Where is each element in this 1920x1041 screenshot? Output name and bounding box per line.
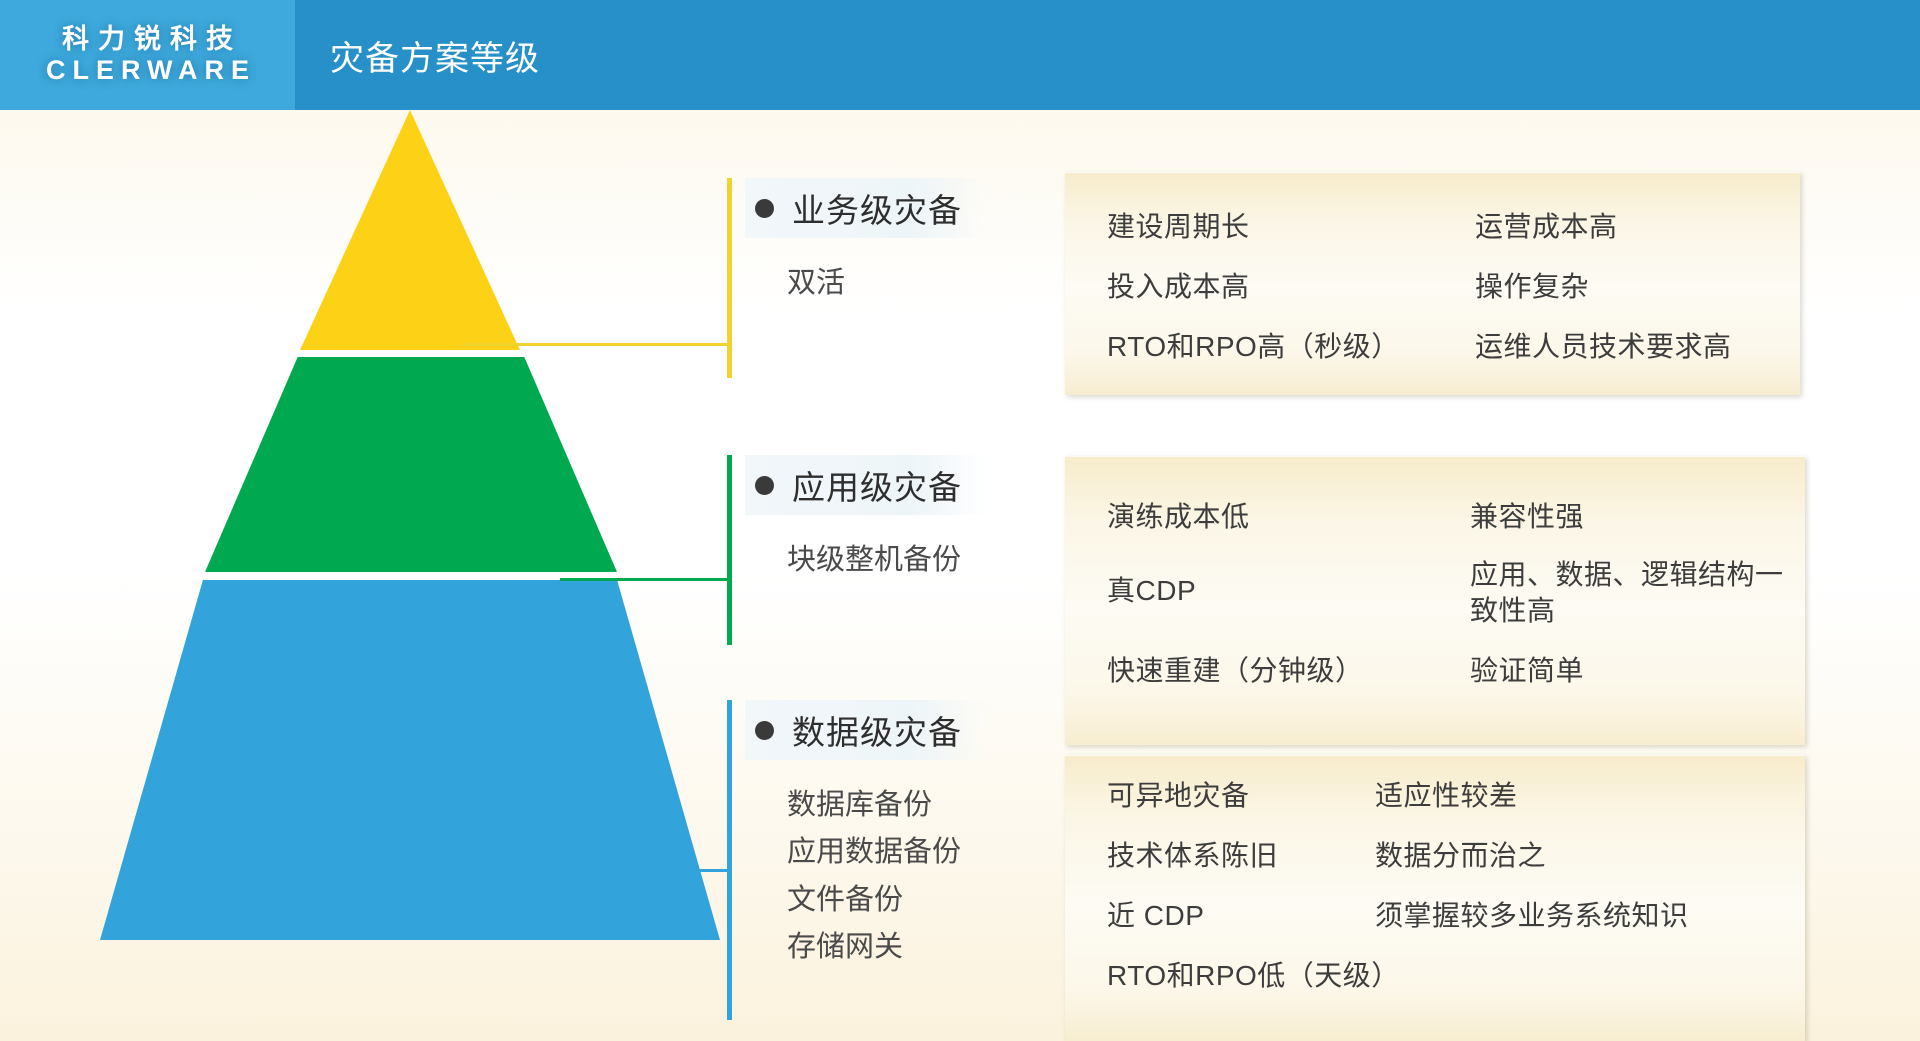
list-item: 文件备份 bbox=[787, 877, 988, 924]
detail-item: 验证简单 bbox=[1470, 653, 1584, 688]
list-item: 存储网关 bbox=[787, 924, 988, 971]
page-title: 灾备方案等级 bbox=[330, 0, 540, 110]
detail-box-business: 建设周期长 投入成本高 RTO和RPO高（秒级） 运营成本高 操作复杂 运维人员… bbox=[1065, 172, 1800, 395]
detail-item: RTO和RPO低（天级） bbox=[1107, 958, 1400, 993]
list-item: 数据库备份 bbox=[787, 782, 988, 829]
detail-item: 数据分而治之 bbox=[1375, 838, 1546, 873]
level-title-business: 业务级灾备 bbox=[792, 184, 962, 232]
pyramid-segment-data bbox=[100, 580, 720, 940]
level-body-application: 应用级灾备 块级整机备份 bbox=[745, 455, 988, 584]
detail-item: 应用、数据、逻辑结构一致性高 bbox=[1470, 557, 1790, 629]
detail-item: 适应性较差 bbox=[1375, 778, 1518, 813]
detail-item: 须掌握较多业务系统知识 bbox=[1375, 898, 1689, 933]
logo-chinese-name: 科力锐科技 bbox=[53, 24, 242, 55]
level-title-application: 应用级灾备 bbox=[792, 461, 962, 509]
detail-item: 投入成本高 bbox=[1107, 269, 1250, 304]
detail-item: 演练成本低 bbox=[1107, 499, 1250, 534]
detail-item: 运营成本高 bbox=[1475, 209, 1618, 244]
pyramid-segment-application bbox=[205, 357, 617, 572]
detail-grid: 可异地灾备 技术体系陈旧 近 CDP RTO和RPO低（天级） 适应性较差 数据… bbox=[1065, 756, 1805, 1041]
level-header-application: 应用级灾备 bbox=[745, 455, 988, 515]
pyramid-diagram bbox=[0, 110, 760, 1041]
level-header-business: 业务级灾备 bbox=[745, 178, 988, 238]
level-accent-bar-business bbox=[727, 178, 732, 378]
detail-item: 真CDP bbox=[1107, 573, 1196, 608]
level-header-data: 数据级灾备 bbox=[745, 700, 988, 760]
level-sublist-application: 块级整机备份 bbox=[787, 537, 988, 584]
list-item: 块级整机备份 bbox=[787, 537, 988, 584]
detail-item: 操作复杂 bbox=[1475, 269, 1589, 304]
level-sublist-business: 双活 bbox=[787, 260, 988, 307]
detail-grid: 演练成本低 真CDP 快速重建（分钟级） 兼容性强 应用、数据、逻辑结构一致性高… bbox=[1065, 457, 1805, 745]
detail-box-application: 演练成本低 真CDP 快速重建（分钟级） 兼容性强 应用、数据、逻辑结构一致性高… bbox=[1065, 456, 1805, 745]
bullet-dot-icon bbox=[755, 199, 774, 218]
level-sublist-data: 数据库备份 应用数据备份 文件备份 存储网关 bbox=[787, 782, 988, 971]
company-logo: 科力锐科技 CLERWARE bbox=[0, 0, 295, 110]
logo-english-name: CLERWARE bbox=[39, 55, 256, 86]
pyramid-segment-business bbox=[300, 110, 520, 350]
connector-line-application bbox=[560, 578, 727, 581]
slide-header: 科力锐科技 CLERWARE 灾备方案等级 bbox=[0, 0, 1920, 110]
detail-grid: 建设周期长 投入成本高 RTO和RPO高（秒级） 运营成本高 操作复杂 运维人员… bbox=[1065, 173, 1800, 395]
detail-item: 建设周期长 bbox=[1107, 209, 1250, 244]
list-item: 双活 bbox=[787, 260, 988, 307]
level-accent-bar-data bbox=[727, 700, 732, 1020]
detail-box-data: 可异地灾备 技术体系陈旧 近 CDP RTO和RPO低（天级） 适应性较差 数据… bbox=[1065, 755, 1805, 1041]
detail-item: 技术体系陈旧 bbox=[1107, 838, 1278, 873]
detail-item: RTO和RPO高（秒级） bbox=[1107, 329, 1400, 364]
detail-item: 运维人员技术要求高 bbox=[1475, 329, 1732, 364]
detail-item: 可异地灾备 bbox=[1107, 778, 1250, 813]
level-body-data: 数据级灾备 数据库备份 应用数据备份 文件备份 存储网关 bbox=[745, 700, 988, 971]
detail-item: 兼容性强 bbox=[1470, 499, 1584, 534]
bullet-dot-icon bbox=[755, 721, 774, 740]
level-title-data: 数据级灾备 bbox=[792, 706, 962, 754]
detail-item: 近 CDP bbox=[1107, 898, 1204, 933]
connector-line-data bbox=[645, 869, 727, 872]
detail-item: 快速重建（分钟级） bbox=[1107, 653, 1364, 688]
connector-line-business bbox=[462, 343, 727, 346]
slide-canvas: 科力锐科技 CLERWARE 灾备方案等级 业务级灾备 双活 bbox=[0, 0, 1920, 1041]
level-accent-bar-application bbox=[727, 455, 732, 645]
level-body-business: 业务级灾备 双活 bbox=[745, 178, 988, 307]
bullet-dot-icon bbox=[755, 476, 774, 495]
list-item: 应用数据备份 bbox=[787, 829, 988, 876]
